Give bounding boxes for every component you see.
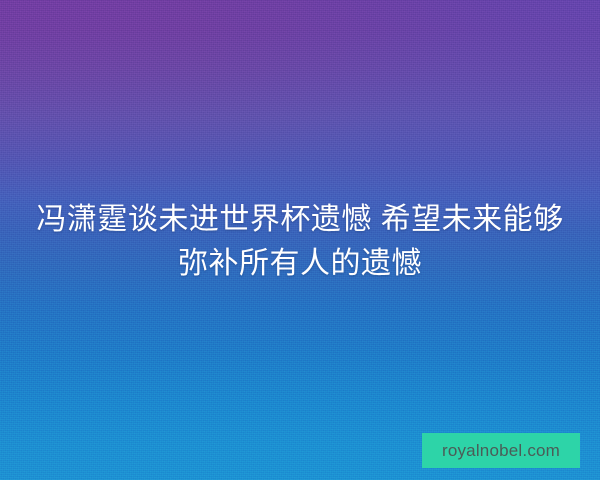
thumbnail-canvas: 冯潇霆谈未进世界杯遗憾 希望未来能够 弥补所有人的遗憾 royalnobel.c… xyxy=(0,0,600,480)
watermark-badge: royalnobel.com xyxy=(422,433,580,468)
headline-title: 冯潇霆谈未进世界杯遗憾 希望未来能够 弥补所有人的遗憾 xyxy=(0,198,600,286)
headline-line-2: 弥补所有人的遗憾 xyxy=(0,242,600,286)
watermark-label: royalnobel.com xyxy=(442,441,560,461)
headline-line-1: 冯潇霆谈未进世界杯遗憾 希望未来能够 xyxy=(0,198,600,242)
